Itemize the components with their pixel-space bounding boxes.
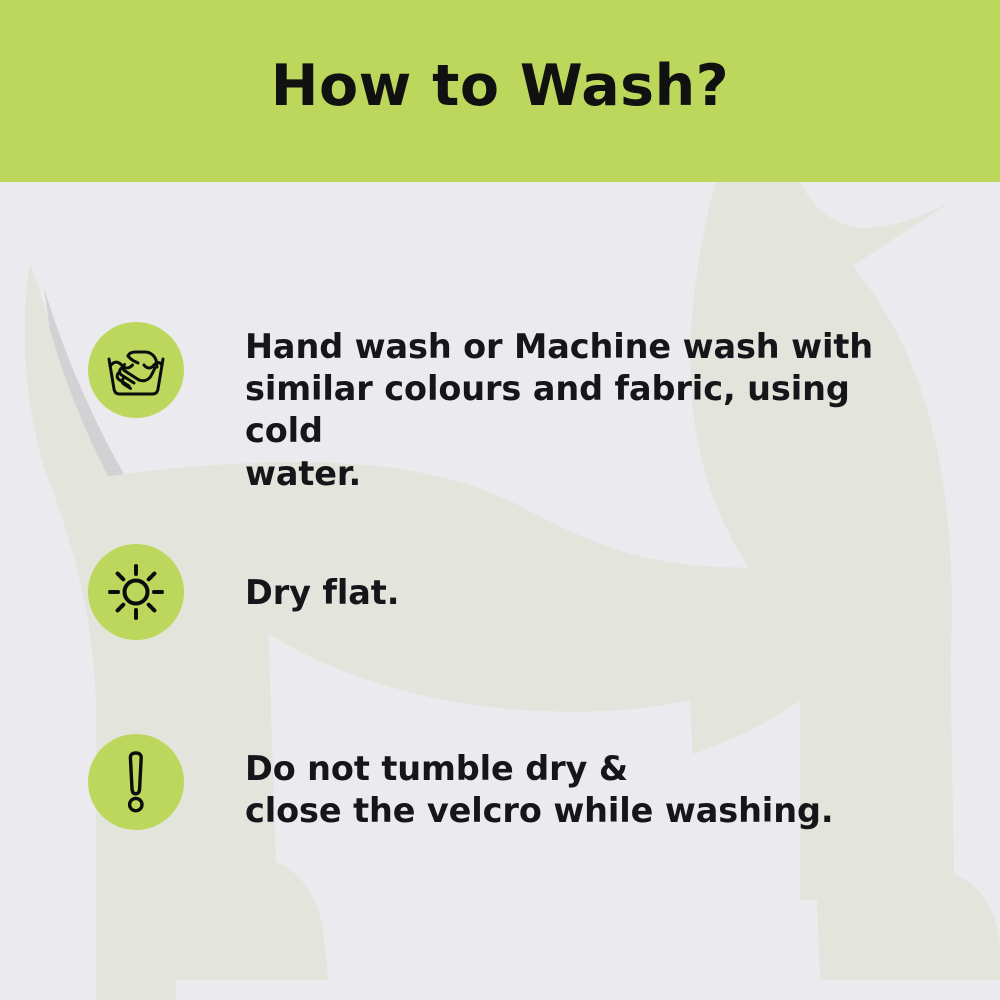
hand-wash-icon xyxy=(88,322,184,418)
instruction-list: Hand wash or Machine wash with similar c… xyxy=(0,182,1000,1000)
exclamation-glyph xyxy=(119,751,153,813)
how-to-wash-poster: How to Wash? xyxy=(0,0,1000,1000)
list-item-label: Hand wash or Machine wash with similar c… xyxy=(245,326,935,495)
header-band: How to Wash? xyxy=(0,0,1000,182)
exclamation-warning-icon xyxy=(88,734,184,830)
hand-wash-glyph xyxy=(104,341,168,399)
list-item-label: Dry flat. xyxy=(245,572,399,614)
list-item: Dry flat. xyxy=(88,544,399,640)
sun-icon xyxy=(88,544,184,640)
page-title: How to Wash? xyxy=(271,58,730,125)
sun-glyph xyxy=(107,563,165,621)
list-item-label: Do not tumble dry & close the velcro whi… xyxy=(245,748,833,832)
list-item: Hand wash or Machine wash with similar c… xyxy=(88,322,935,495)
list-item: Do not tumble dry & close the velcro whi… xyxy=(88,734,833,832)
